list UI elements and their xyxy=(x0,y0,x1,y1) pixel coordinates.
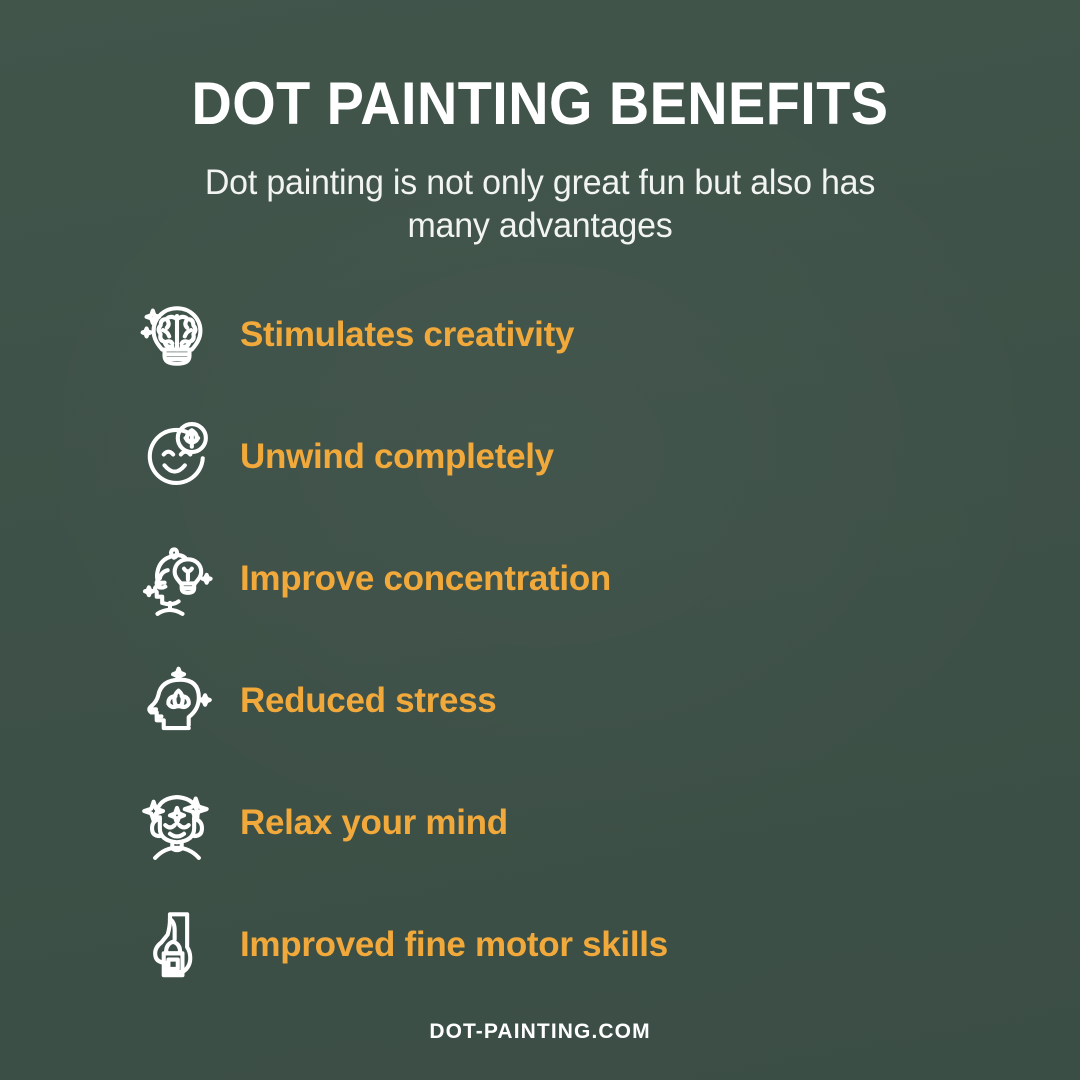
smiling-face-flower-icon xyxy=(136,415,218,497)
list-item: Improved fine motor skills xyxy=(0,898,1080,990)
lightbulb-brain-icon xyxy=(136,293,218,375)
hand-holding-tool-icon xyxy=(136,903,218,985)
benefit-label: Unwind completely xyxy=(240,439,554,474)
list-item: Stimulates creativity xyxy=(0,288,1080,380)
page-subtitle: Dot painting is not only great fun but a… xyxy=(167,161,914,247)
head-profile-lotus-icon xyxy=(136,659,218,741)
benefit-label: Relax your mind xyxy=(240,805,508,840)
calm-face-stars-icon xyxy=(136,781,218,863)
benefit-label: Reduced stress xyxy=(240,683,496,718)
page-title: DOT PAINTING BENEFITS xyxy=(38,72,1042,135)
head-profile-lightbulb-icon xyxy=(136,537,218,619)
website-url: DOT-PAINTING.COM xyxy=(429,1020,650,1043)
infographic-poster: DOT PAINTING BENEFITS Dot painting is no… xyxy=(0,0,1080,1080)
benefit-label: Stimulates creativity xyxy=(240,317,574,352)
list-item: Relax your mind xyxy=(0,776,1080,868)
list-item: Improve concentration xyxy=(0,532,1080,624)
poster-header: DOT PAINTING BENEFITS Dot painting is no… xyxy=(0,0,1080,247)
list-item: Reduced stress xyxy=(0,654,1080,746)
benefit-label: Improved fine motor skills xyxy=(240,927,668,962)
benefit-label: Improve concentration xyxy=(240,561,611,596)
list-item: Unwind completely xyxy=(0,410,1080,502)
poster-footer: DOT-PAINTING.COM xyxy=(0,1020,1080,1044)
benefits-list: Stimulates creativity xyxy=(0,288,1080,990)
